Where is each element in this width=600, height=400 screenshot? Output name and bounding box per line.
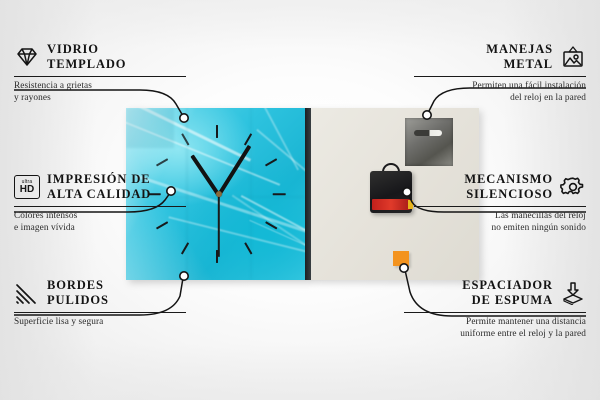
feature-title: MANEJAS METAL	[486, 42, 553, 73]
connector-endpoint-espaciador	[400, 264, 408, 272]
gear-icon	[560, 175, 586, 199]
ultra-hd-icon: ultra HD	[14, 175, 40, 199]
feature-title: ESPACIADOR DE ESPUMA	[462, 278, 553, 309]
connector-endpoint-vidrio-templado	[180, 114, 188, 122]
feature-title: VIDRIO TEMPLADO	[47, 42, 126, 73]
feature-title: IMPRESIÓN DE ALTA CALIDAD	[47, 172, 151, 203]
title-rule	[14, 312, 186, 313]
polished-edges-icon	[14, 281, 40, 305]
foam-spacer-icon	[560, 281, 586, 305]
feature-description: Resistencia a grietas y rayones	[14, 80, 186, 105]
title-rule	[14, 76, 186, 77]
feature-description: Permite mantener una distancia uniforme …	[404, 316, 586, 341]
feature-impresion-alta-calidad: ultra HD IMPRESIÓN DE ALTA CALIDAD Color…	[14, 172, 186, 234]
feature-mecanismo-silencioso: MECANISMO SILENCIOSO Las manecillas del …	[414, 172, 586, 234]
feature-manejas-metal: MANEJAS METAL Permiten una fácil instala…	[414, 42, 586, 104]
feature-bordes-pulidos: BORDES PULIDOS Superficie lisa y segura	[14, 278, 186, 328]
feature-description: Colores intensos e imagen vívida	[14, 210, 186, 235]
wall-frame-hanger-icon	[560, 45, 586, 69]
feature-description: Permiten una fácil instalación del reloj…	[414, 80, 586, 105]
infographic-canvas: VIDRIO TEMPLADO Resistencia a grietas y …	[0, 0, 600, 400]
feature-vidrio-templado: VIDRIO TEMPLADO Resistencia a grietas y …	[14, 42, 186, 104]
feature-title: MECANISMO SILENCIOSO	[464, 172, 553, 203]
title-rule	[414, 206, 586, 207]
connector-endpoint-manejas-metal	[423, 111, 431, 119]
feature-title: BORDES PULIDOS	[47, 278, 109, 309]
feature-espaciador-espuma: ESPACIADOR DE ESPUMA Permite mantener un…	[404, 278, 586, 340]
title-rule	[14, 206, 186, 207]
title-rule	[414, 76, 586, 77]
connector-endpoint-mecanismo	[403, 188, 411, 196]
diamond-icon	[14, 45, 40, 69]
feature-description: Superficie lisa y segura	[14, 316, 186, 328]
title-rule	[404, 312, 586, 313]
feature-description: Las manecillas del reloj no emiten ningú…	[414, 210, 586, 235]
